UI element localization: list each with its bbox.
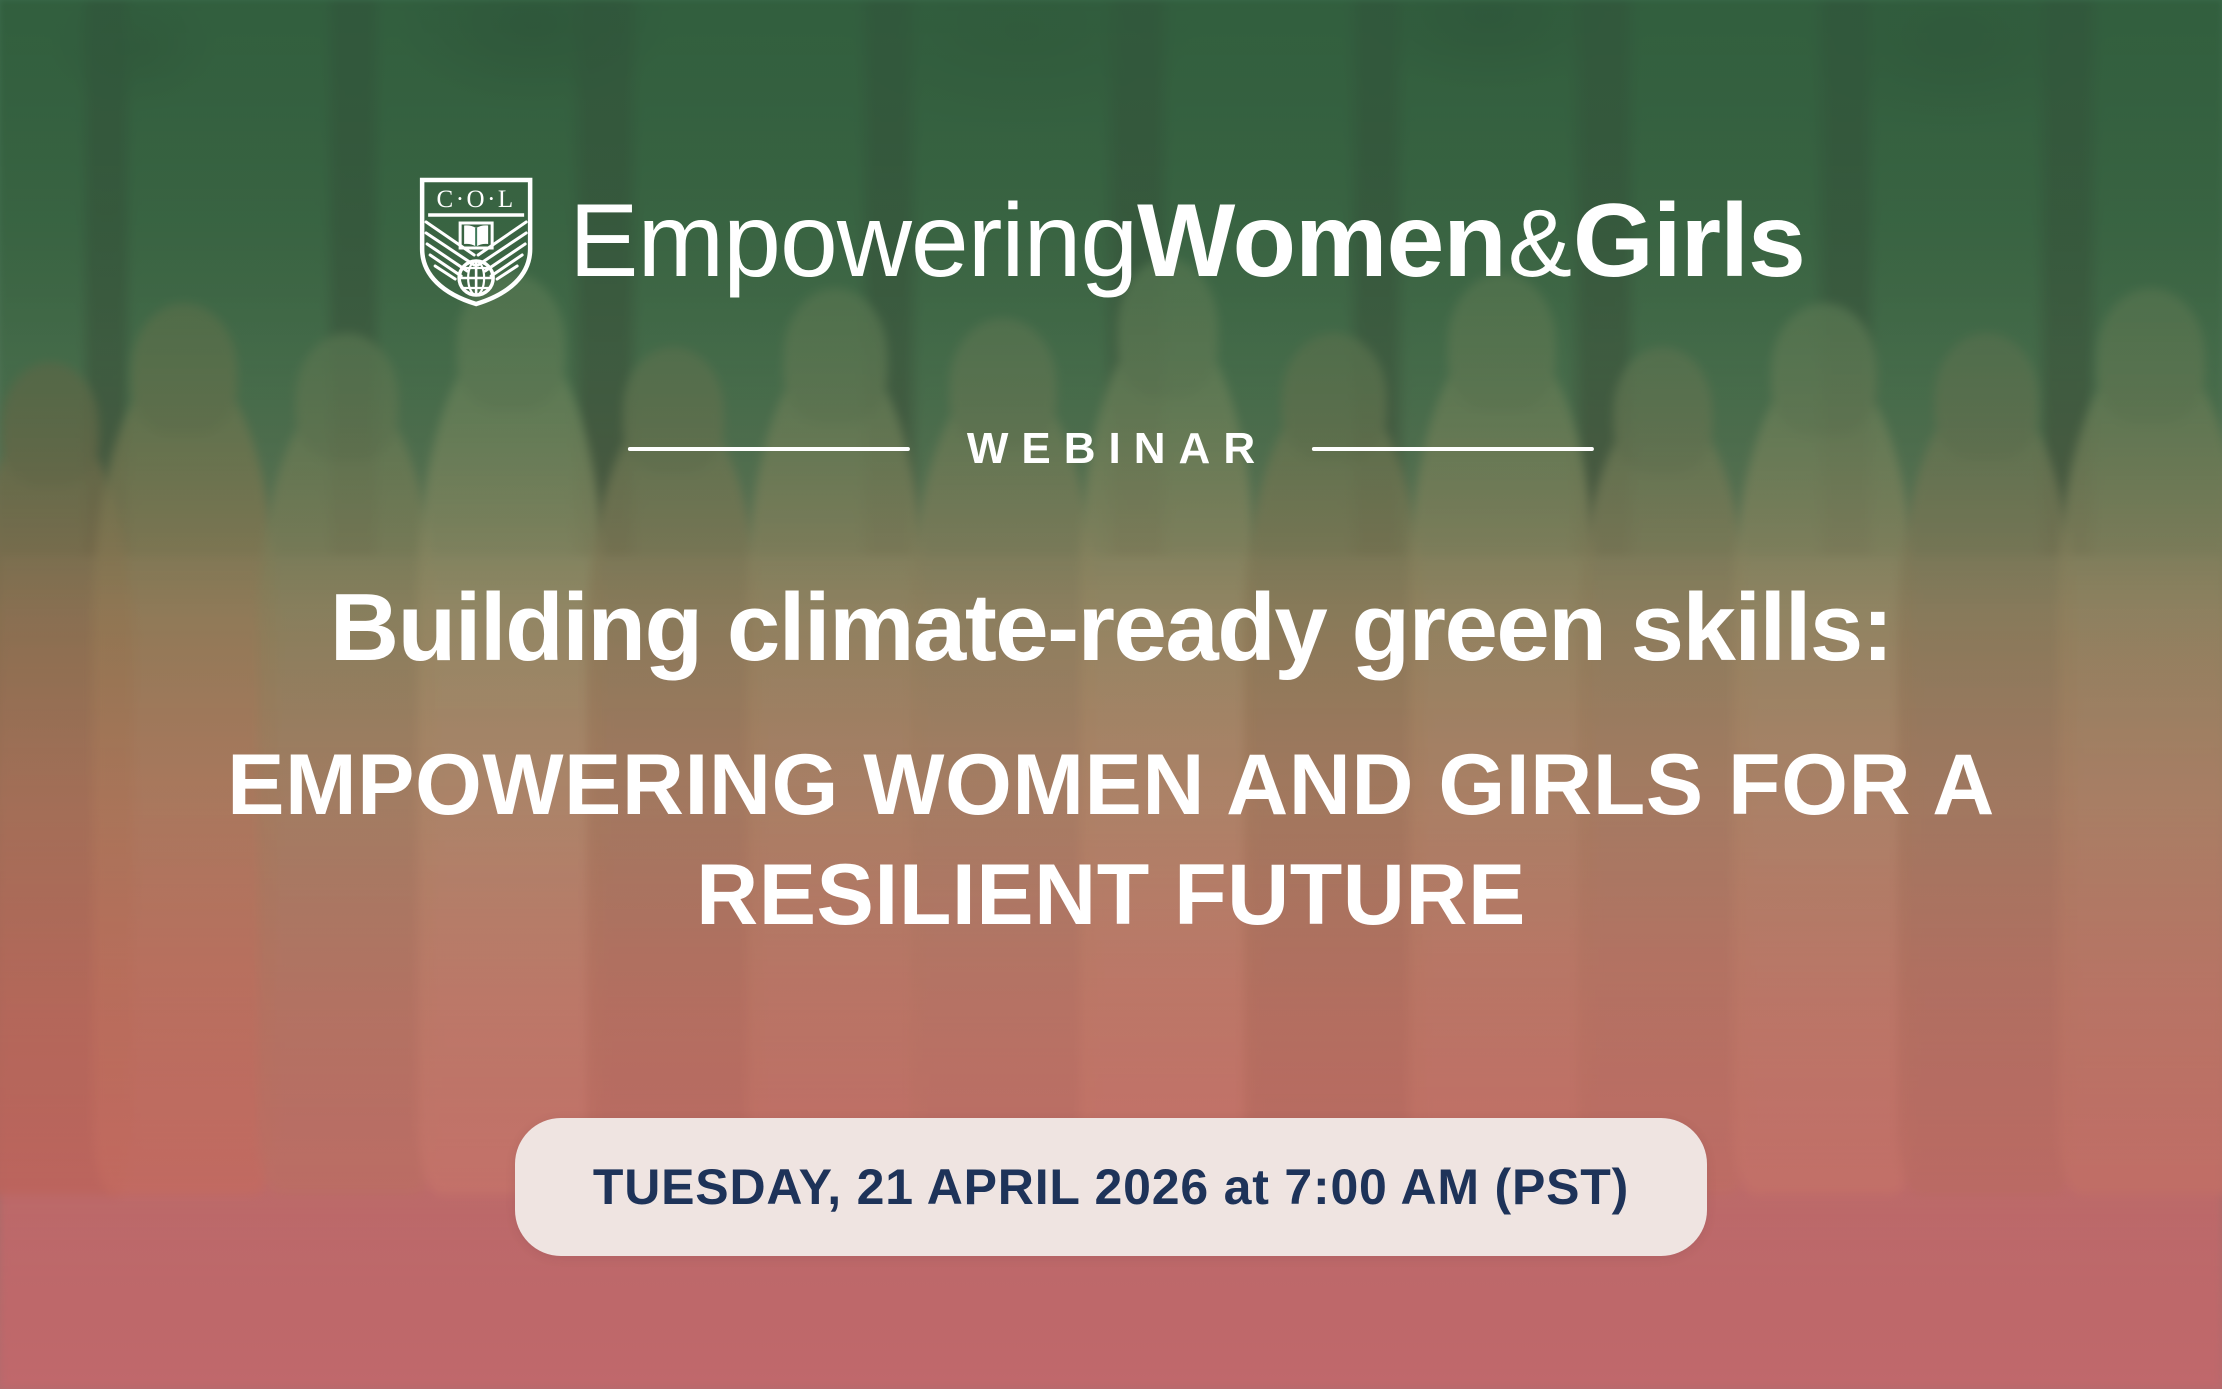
- page-subtitle: EMPOWERING WOMEN AND GIRLS FOR A RESILIE…: [90, 730, 2132, 950]
- wordmark-ampersand: &: [1506, 196, 1573, 292]
- event-date-badge: TUESDAY, 21 APRIL 2026 at 7:00 AM (PST): [515, 1118, 1707, 1256]
- col-shield-icon: C·O·L: [417, 175, 535, 307]
- poster-content: C·O·L: [0, 0, 2222, 1389]
- eyebrow-rule-left: [628, 447, 910, 451]
- brand-wordmark: EmpoweringWomen&Girls: [569, 189, 1805, 293]
- wordmark-women: Women: [1137, 189, 1506, 293]
- headline-block: Building climate-ready green skills: EMP…: [0, 578, 2222, 950]
- eyebrow-rule-right: [1312, 447, 1594, 451]
- eyebrow-label: WEBINAR: [954, 424, 1268, 474]
- subtitle-line-2: RESILIENT FUTURE: [90, 840, 2132, 950]
- webinar-eyebrow: WEBINAR: [628, 424, 1594, 474]
- subtitle-line-1: EMPOWERING WOMEN AND GIRLS FOR A: [90, 730, 2132, 840]
- wordmark-empowering: Empowering: [569, 189, 1137, 293]
- brand-lockup: C·O·L: [417, 175, 1805, 307]
- wordmark-girls: Girls: [1573, 189, 1805, 293]
- svg-text:C·O·L: C·O·L: [437, 186, 516, 213]
- webinar-poster: C·O·L: [0, 0, 2222, 1389]
- page-title: Building climate-ready green skills:: [90, 578, 2132, 678]
- event-date-text: TUESDAY, 21 APRIL 2026 at 7:00 AM (PST): [593, 1159, 1629, 1215]
